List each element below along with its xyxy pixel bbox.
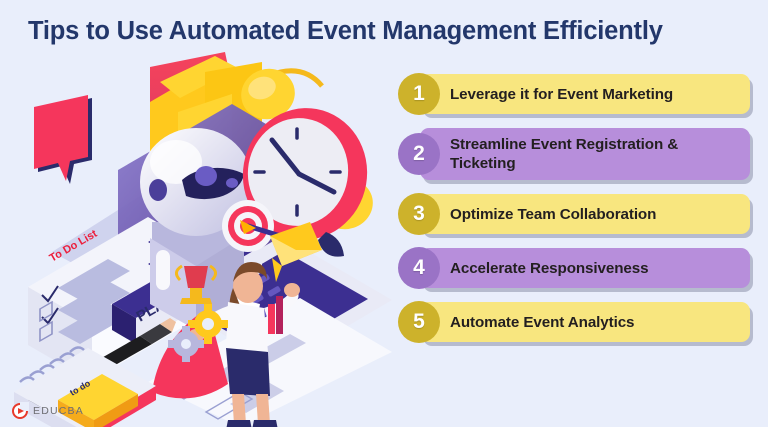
- tip-label-4: Accelerate Responsiveness: [450, 259, 648, 278]
- tip-label-5: Automate Event Analytics: [450, 313, 634, 332]
- tip-number-4: 4: [398, 247, 440, 289]
- speech-bubble-icon: [34, 95, 92, 184]
- infographic-canvas: Tips to Use Automated Event Management E…: [0, 0, 768, 427]
- tip-label-3: Optimize Team Collaboration: [450, 205, 656, 224]
- tip-item-1[interactable]: 1 Leverage it for Event Marketing: [398, 74, 750, 114]
- tip-label-1: Leverage it for Event Marketing: [450, 85, 673, 104]
- tip-card-2[interactable]: Streamline Event Registration & Ticketin…: [420, 128, 750, 180]
- educba-logo[interactable]: EDUCBA: [12, 403, 84, 419]
- tip-label-2: Streamline Event Registration & Ticketin…: [450, 135, 740, 173]
- educba-logo-text: EDUCBA: [33, 405, 84, 417]
- tip-item-2[interactable]: 2 Streamline Event Registration & Ticket…: [398, 128, 750, 180]
- tip-card-3[interactable]: Optimize Team Collaboration: [420, 194, 750, 234]
- tip-card-4[interactable]: Accelerate Responsiveness: [420, 248, 750, 288]
- tip-item-3[interactable]: 3 Optimize Team Collaboration: [398, 194, 750, 234]
- tip-card-1[interactable]: Leverage it for Event Marketing: [420, 74, 750, 114]
- tip-number-1: 1: [398, 73, 440, 115]
- tip-number-2: 2: [398, 133, 440, 175]
- tip-item-5[interactable]: 5 Automate Event Analytics: [398, 302, 750, 342]
- educba-circle-play-icon: [12, 403, 28, 419]
- illustration: To Do List: [0, 52, 392, 427]
- tip-number-3: 3: [398, 193, 440, 235]
- tip-card-5[interactable]: Automate Event Analytics: [420, 302, 750, 342]
- tip-item-4[interactable]: 4 Accelerate Responsiveness: [398, 248, 750, 288]
- tips-list: 1 Leverage it for Event Marketing 2 Stre…: [398, 74, 750, 354]
- page-title: Tips to Use Automated Event Management E…: [28, 14, 748, 48]
- tip-number-5: 5: [398, 301, 440, 343]
